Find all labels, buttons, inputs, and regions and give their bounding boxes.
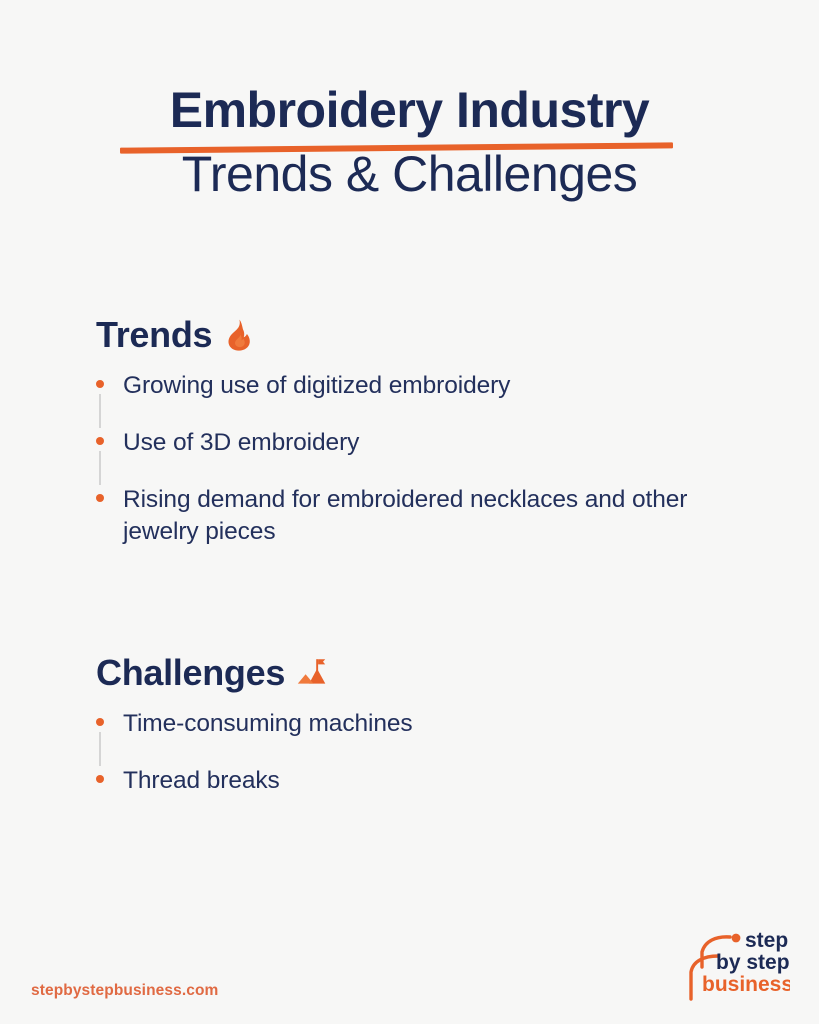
bullet-dot-icon	[96, 718, 104, 726]
list-item: Use of 3D embroidery	[96, 427, 756, 460]
mountain-flag-icon	[297, 656, 327, 690]
logo-line-3: business	[702, 973, 790, 996]
section-trends-title: Trends	[96, 317, 212, 353]
logo-line-2: by step	[716, 951, 790, 974]
bullet-dot-icon	[96, 437, 104, 445]
bullet-connector-line	[99, 451, 101, 485]
list-item: Time-consuming machines	[96, 708, 756, 741]
bullet-dot-icon	[96, 494, 104, 502]
trends-list: Growing use of digitized embroidery Use …	[96, 370, 756, 549]
list-item-label: Use of 3D embroidery	[123, 427, 723, 460]
infographic-poster: Embroidery Industry Trends & Challenges …	[0, 0, 819, 1024]
list-item-label: Time-consuming machines	[123, 708, 723, 741]
brand-logo[interactable]: step by step business	[686, 925, 790, 1005]
bullet-dot-icon	[96, 775, 104, 783]
section-challenges: Challenges Time-consuming machines Threa…	[96, 650, 756, 798]
list-item: Thread breaks	[96, 765, 756, 798]
section-challenges-title: Challenges	[96, 655, 285, 691]
list-item-label: Growing use of digitized embroidery	[123, 370, 723, 403]
section-trends-header: Trends	[96, 312, 756, 358]
bullet-connector-line	[99, 732, 101, 766]
page-title: Embroidery Industry Trends & Challenges	[0, 84, 819, 202]
section-trends: Trends Growing use of digitized embroide…	[96, 312, 756, 549]
list-item-label: Rising demand for embroidered necklaces …	[123, 484, 723, 550]
section-challenges-header: Challenges	[96, 650, 756, 696]
list-item: Rising demand for embroidered necklaces …	[96, 484, 756, 550]
title-line-secondary: Trends & Challenges	[0, 146, 819, 202]
challenges-list: Time-consuming machines Thread breaks	[96, 708, 756, 798]
footer-website-url[interactable]: stepbystepbusiness.com	[31, 982, 218, 1000]
logo-line-1: step	[745, 929, 788, 952]
bullet-dot-icon	[96, 380, 104, 388]
flame-icon	[224, 318, 254, 352]
list-item-label: Thread breaks	[123, 765, 723, 798]
bullet-connector-line	[99, 394, 101, 428]
title-line-primary: Embroidery Industry	[170, 84, 650, 137]
list-item: Growing use of digitized embroidery	[96, 370, 756, 403]
